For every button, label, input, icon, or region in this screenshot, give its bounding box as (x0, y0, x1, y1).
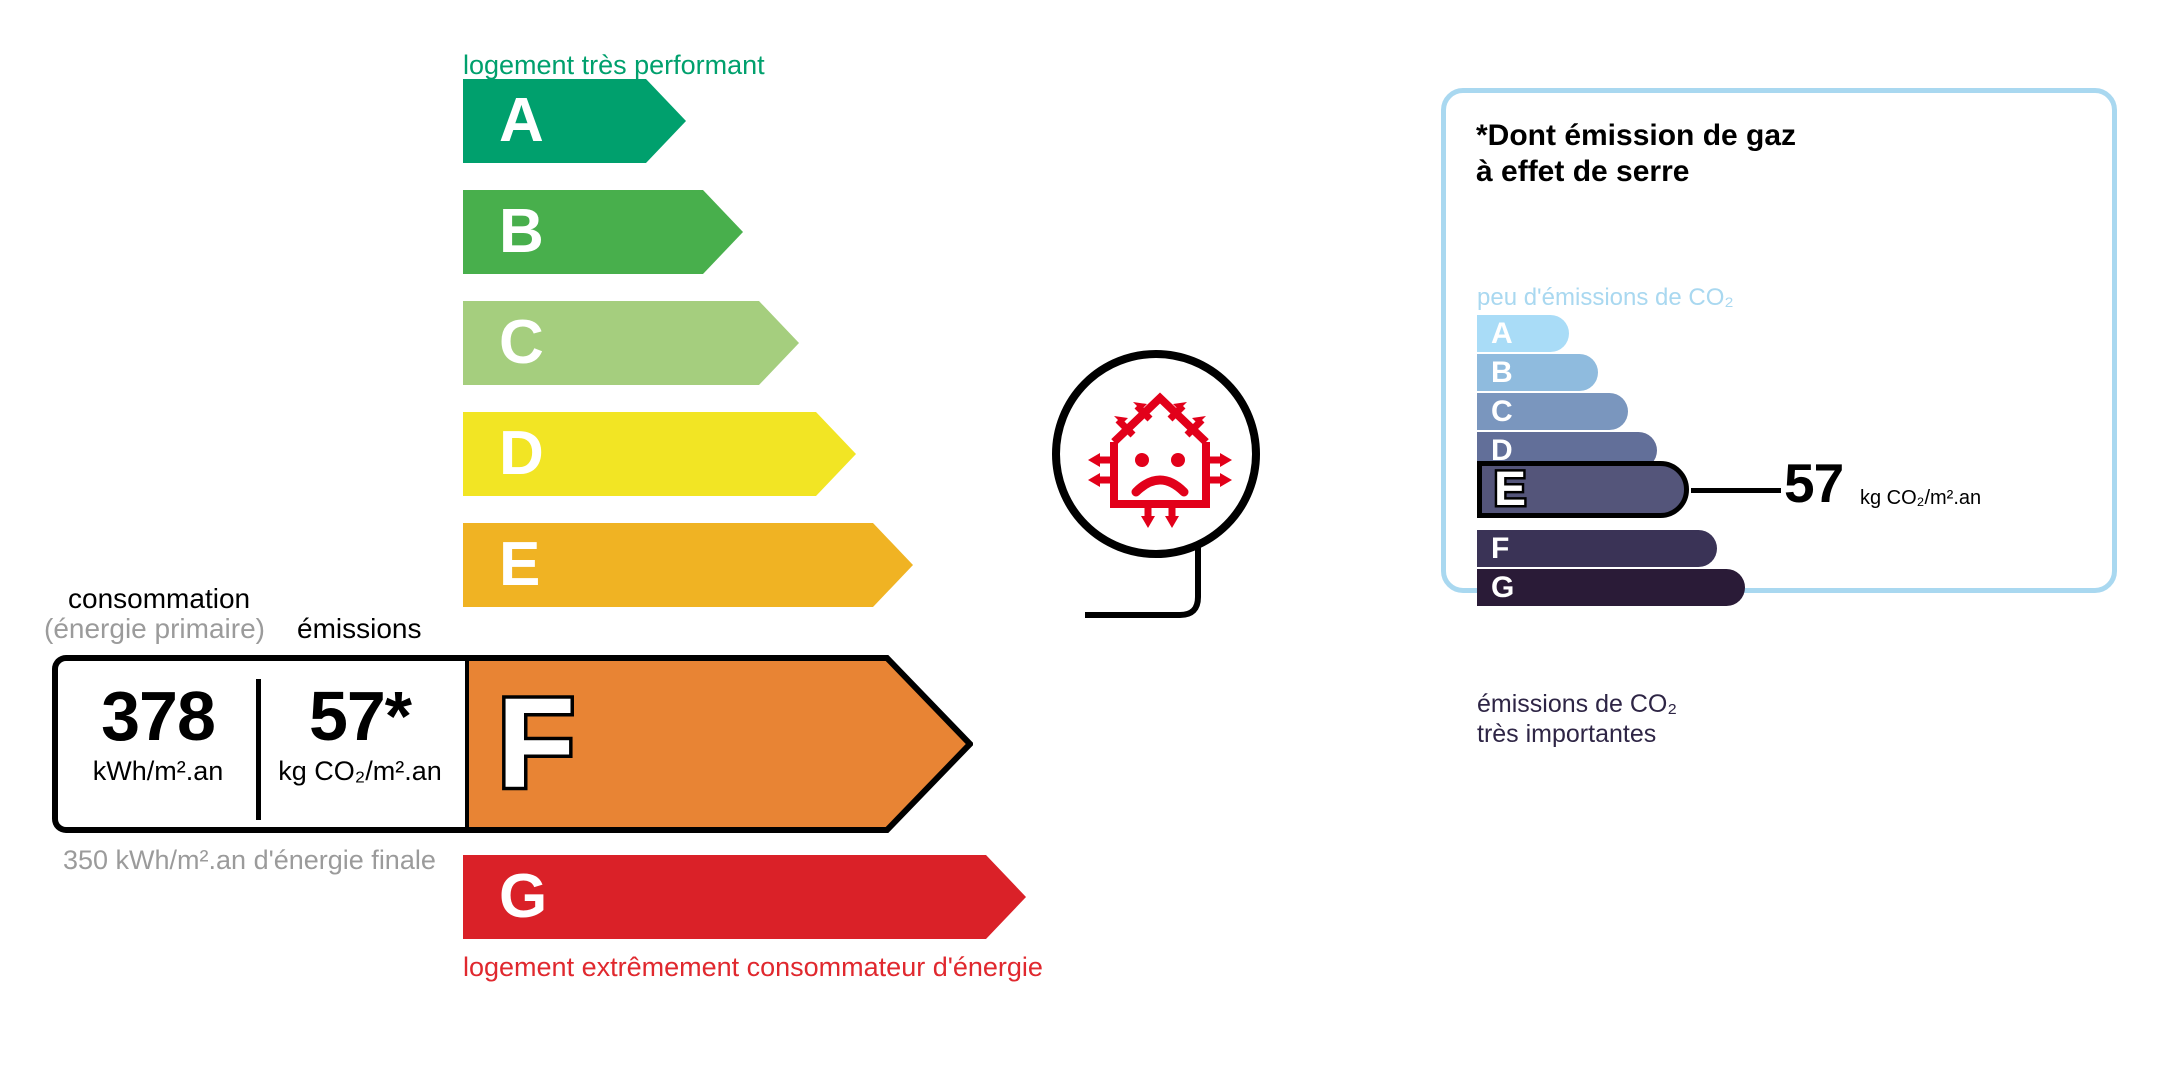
co2-panel-title: *Dont émission de gaz à effet de serre (1476, 118, 1796, 190)
dpe-energy-label: logement très performant A B C (0, 0, 2169, 1079)
co2-bar-A[interactable]: A (1477, 315, 1569, 352)
energy-bottom-caption: logement extrêmement consommateur d'éner… (463, 952, 1043, 983)
co2-bar-F-letter: F (1491, 534, 1509, 564)
co2-value: 57 (1784, 456, 1843, 511)
sad-house-badge (1052, 350, 1260, 558)
emissions-value: 57* (261, 681, 459, 751)
energy-bar-G-shape (463, 855, 1026, 939)
emissions-header-label: émissions (297, 613, 421, 645)
co2-bar-C[interactable]: C (1477, 393, 1628, 430)
value-box: 378 kWh/m².an 57* kg CO₂/m².an (52, 655, 465, 833)
energy-bar-A-letter: A (499, 90, 544, 152)
co2-value-unit: kg CO₂/m².an (1860, 487, 1981, 510)
co2-bar-E-selected[interactable]: E (1477, 461, 1689, 518)
energy-bar-E[interactable]: E (463, 523, 913, 607)
co2-bar-B-shape: B (1477, 354, 1598, 391)
co2-bar-F-shape: F (1477, 530, 1717, 567)
emissions-unit: kg CO₂/m².an (261, 757, 459, 787)
co2-bar-A-shape: A (1477, 315, 1569, 352)
co2-bar-C-letter: C (1491, 397, 1513, 427)
energy-bar-B[interactable]: B (463, 190, 743, 274)
energy-bar-E-letter: E (499, 534, 540, 596)
consumption-value-cell: 378 kWh/m².an (60, 681, 256, 787)
energy-bar-G-letter: G (499, 866, 547, 928)
emissions-value-cell: 57* kg CO₂/m².an (261, 681, 459, 787)
co2-callout-line (1691, 488, 1781, 493)
energy-bar-F-letter: F (497, 680, 575, 808)
co2-bar-A-letter: A (1491, 319, 1513, 349)
energy-bar-C[interactable]: C (463, 301, 799, 385)
final-energy-note: 350 kWh/m².an d'énergie finale (63, 845, 436, 877)
co2-bar-E-shape: E (1477, 461, 1689, 518)
consumption-header-label: consommation (68, 583, 250, 615)
energy-bar-G[interactable]: G (463, 855, 1026, 939)
energy-bar-D-letter: D (499, 423, 544, 485)
consumption-subheader-label: (énergie primaire) (44, 613, 265, 645)
consumption-unit: kWh/m².an (60, 757, 256, 787)
energy-bar-C-letter: C (499, 312, 544, 374)
sad-house-heat-loss-icon (1084, 380, 1236, 532)
co2-bar-C-shape: C (1477, 393, 1628, 430)
co2-bottom-caption: émissions de CO₂ très importantes (1477, 690, 1677, 749)
energy-consumption-chart: logement très performant A B C (0, 0, 1400, 1079)
energy-bar-D[interactable]: D (463, 412, 856, 496)
co2-top-caption: peu d'émissions de CO₂ (1477, 284, 1734, 312)
co2-bar-F[interactable]: F (1477, 530, 1717, 567)
energy-top-caption: logement très performant (463, 50, 765, 81)
co2-bar-G[interactable]: G (1477, 569, 1745, 606)
co2-bar-E-letter: E (1494, 466, 1526, 514)
energy-bar-B-letter: B (499, 201, 544, 263)
callout-connector (1085, 540, 1225, 670)
co2-bar-G-shape: G (1477, 569, 1745, 606)
co2-bar-B[interactable]: B (1477, 354, 1598, 391)
energy-bar-F-selected[interactable]: F (463, 655, 973, 833)
energy-bar-A-shape (463, 79, 686, 163)
co2-bar-B-letter: B (1491, 358, 1513, 388)
energy-bar-A[interactable]: A (463, 79, 686, 163)
consumption-value: 378 (60, 681, 256, 751)
co2-bar-G-letter: G (1491, 573, 1514, 603)
co2-emissions-panel: *Dont émission de gaz à effet de serre p… (1441, 88, 2117, 593)
